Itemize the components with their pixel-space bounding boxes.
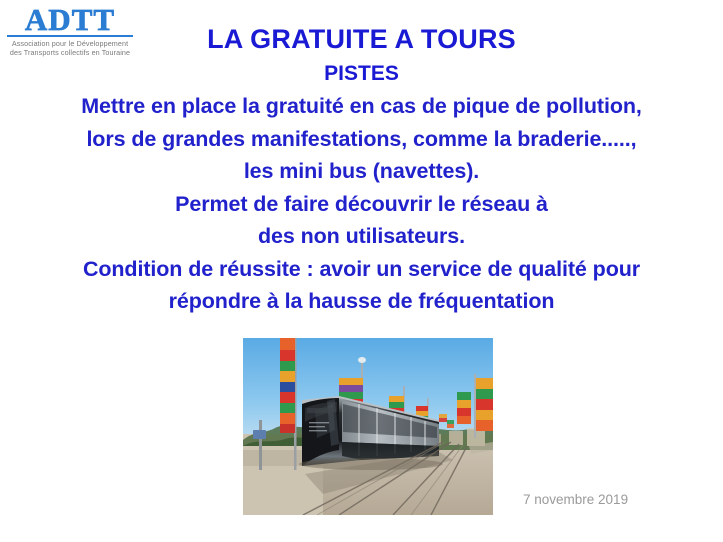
slide-date: 7 novembre 2019 bbox=[523, 492, 683, 507]
body-line-1: Mettre en place la gratuité en cas de pi… bbox=[8, 90, 715, 123]
slide-title: LA GRATUITE A TOURS bbox=[0, 24, 723, 55]
slide-subtitle: PISTES bbox=[0, 62, 723, 86]
body-line-6: Condition de réussite : avoir un service… bbox=[8, 253, 715, 286]
tram-photo bbox=[243, 338, 493, 515]
body-text-block: Mettre en place la gratuité en cas de pi… bbox=[8, 90, 715, 318]
tram-photo-illustration bbox=[243, 338, 493, 515]
slide-canvas: ADTT Association pour le Développement d… bbox=[0, 0, 723, 542]
body-line-3: les mini bus (navettes). bbox=[8, 155, 715, 188]
body-line-5: des non utilisateurs. bbox=[8, 220, 715, 253]
body-line-2: lors de grandes manifestations, comme la… bbox=[8, 123, 715, 156]
body-line-7: répondre à la hausse de fréquentation bbox=[8, 285, 715, 318]
body-line-4: Permet de faire découvrir le réseau à bbox=[8, 188, 715, 221]
